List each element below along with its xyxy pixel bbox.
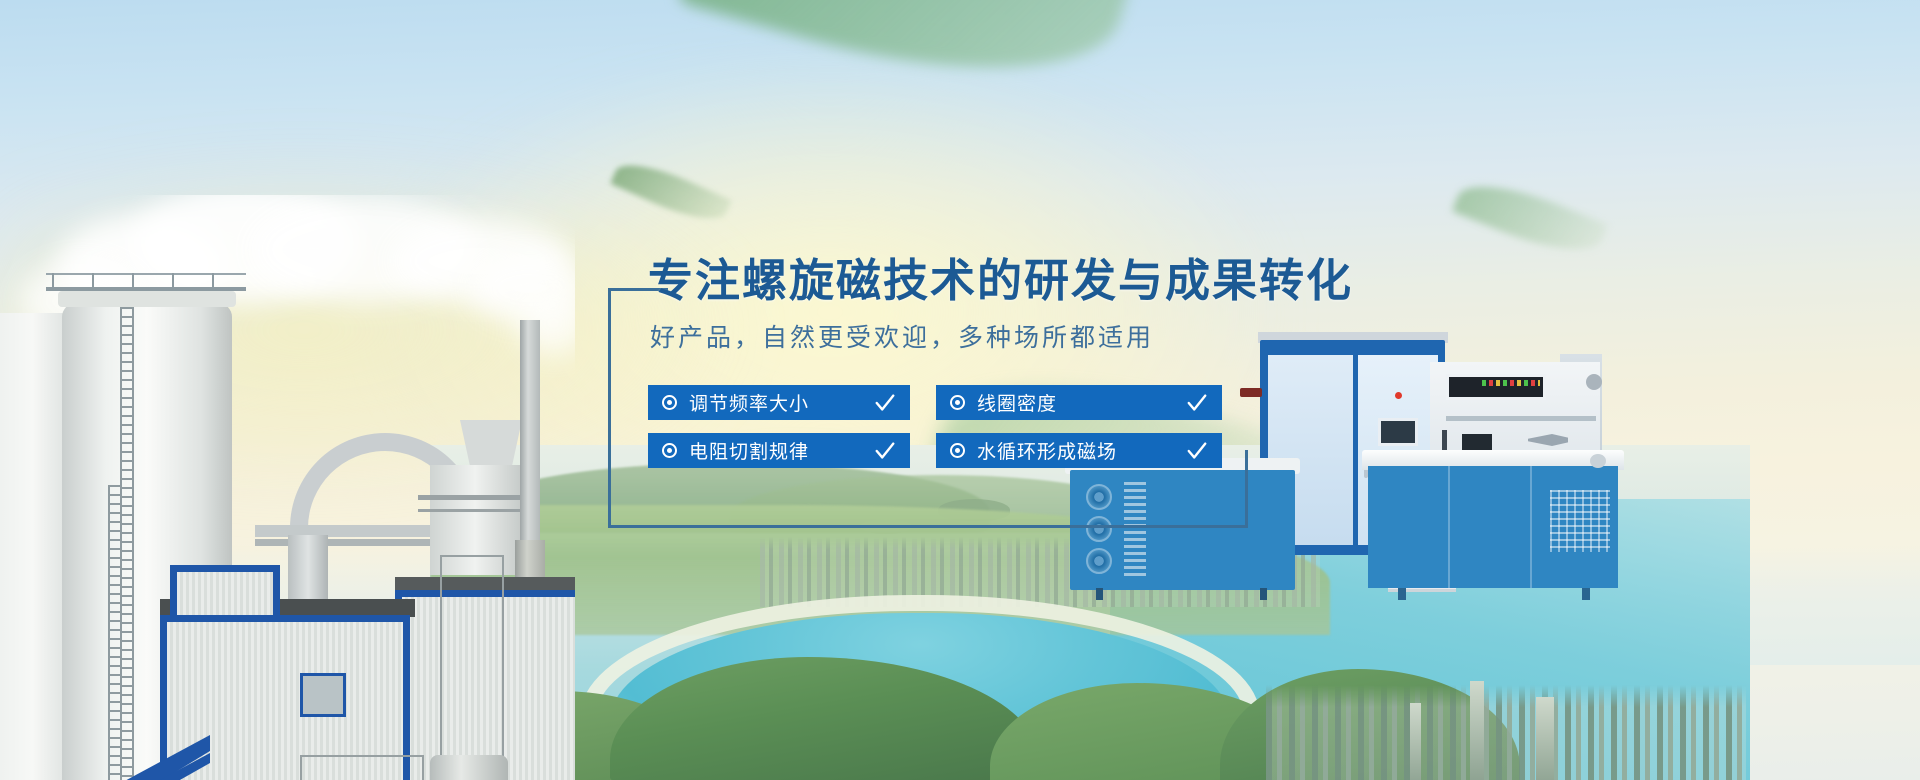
near-skyline [1266, 685, 1746, 780]
skyscraper [1410, 703, 1421, 780]
silo-cap [58, 291, 236, 307]
feature-pill-water-circulation[interactable]: 水循环形成磁场 [936, 433, 1222, 468]
smokestack [520, 320, 540, 550]
feature-pill-label: 线圈密度 [977, 389, 1186, 416]
feature-pill-coil-density[interactable]: 线圈密度 [936, 385, 1222, 420]
chiller-leg [1260, 588, 1267, 600]
indicator-lights-icon [1482, 380, 1540, 386]
pipe [418, 509, 528, 512]
ventilation-grill [1550, 490, 1610, 552]
building-window [300, 673, 346, 717]
check-icon [874, 440, 896, 462]
radio-dot-icon [950, 395, 965, 410]
radio-dot-icon [662, 395, 677, 410]
feature-pill-label: 水循环形成磁场 [977, 437, 1186, 464]
ventilation-grill [1124, 482, 1146, 578]
silo-ladder [120, 307, 134, 777]
feature-pill-adjust-frequency[interactable]: 调节频率大小 [648, 385, 910, 420]
check-icon [1186, 440, 1208, 462]
skyscraper [1536, 697, 1554, 780]
machinery-group [1130, 330, 1600, 650]
unit-leg [1582, 588, 1590, 600]
skyscraper [1470, 681, 1484, 780]
status-led-icon [1395, 392, 1402, 399]
fan-icon [1086, 548, 1112, 574]
pipe [418, 495, 528, 500]
steel-frame [440, 555, 504, 759]
radio-dot-icon [950, 443, 965, 458]
fan-icon [1086, 516, 1112, 542]
feature-pill-label: 电阻切割规律 [689, 437, 874, 464]
check-icon [1186, 392, 1208, 414]
factory-scene [0, 195, 575, 780]
feature-pill-row: 调节频率大小 线圈密度 [648, 385, 1228, 420]
unit-knob [1590, 454, 1606, 468]
storage-tank [430, 755, 508, 780]
furnace-control-panel [1446, 374, 1546, 400]
feature-pill-label: 调节频率大小 [689, 389, 874, 416]
hero-banner: 专注螺旋磁技术的研发与成果转化 好产品，自然更受欢迎，多种场所都适用 调节频率大… [0, 0, 1920, 780]
chiller-leg [1096, 588, 1103, 600]
rail-post [52, 273, 54, 291]
steel-frame [300, 755, 424, 780]
page-subtitle: 好产品，自然更受欢迎，多种场所都适用 [650, 326, 1154, 351]
cabinet-display-screen [1378, 418, 1418, 446]
panel-seam [1448, 466, 1450, 588]
cabinet-connector [1240, 388, 1262, 397]
check-icon [874, 392, 896, 414]
fan-icon [1586, 374, 1602, 390]
panel-seam [1530, 466, 1532, 588]
rail-post [92, 273, 94, 291]
page-title: 专注螺旋磁技术的研发与成果转化 [648, 258, 1353, 303]
rail-post [212, 273, 214, 291]
catwalk-rail [46, 273, 246, 275]
feature-pill-list: 调节频率大小 线圈密度 电阻切割规律 [648, 385, 1228, 481]
radio-dot-icon [662, 443, 677, 458]
catwalk-rail [46, 287, 246, 291]
feature-pill-resistance-cutting[interactable]: 电阻切割规律 [648, 433, 910, 468]
feature-pill-row: 电阻切割规律 水循环形成磁场 [648, 433, 1228, 468]
rail-post [172, 273, 174, 291]
silo-ladder [108, 485, 122, 780]
fan-icon [1086, 484, 1112, 510]
rail-post [132, 273, 134, 291]
unit-leg [1398, 588, 1406, 600]
furnace-seam [1446, 416, 1596, 421]
leaf-decoration-icon [1452, 169, 1608, 268]
furnace-display [1462, 434, 1492, 450]
